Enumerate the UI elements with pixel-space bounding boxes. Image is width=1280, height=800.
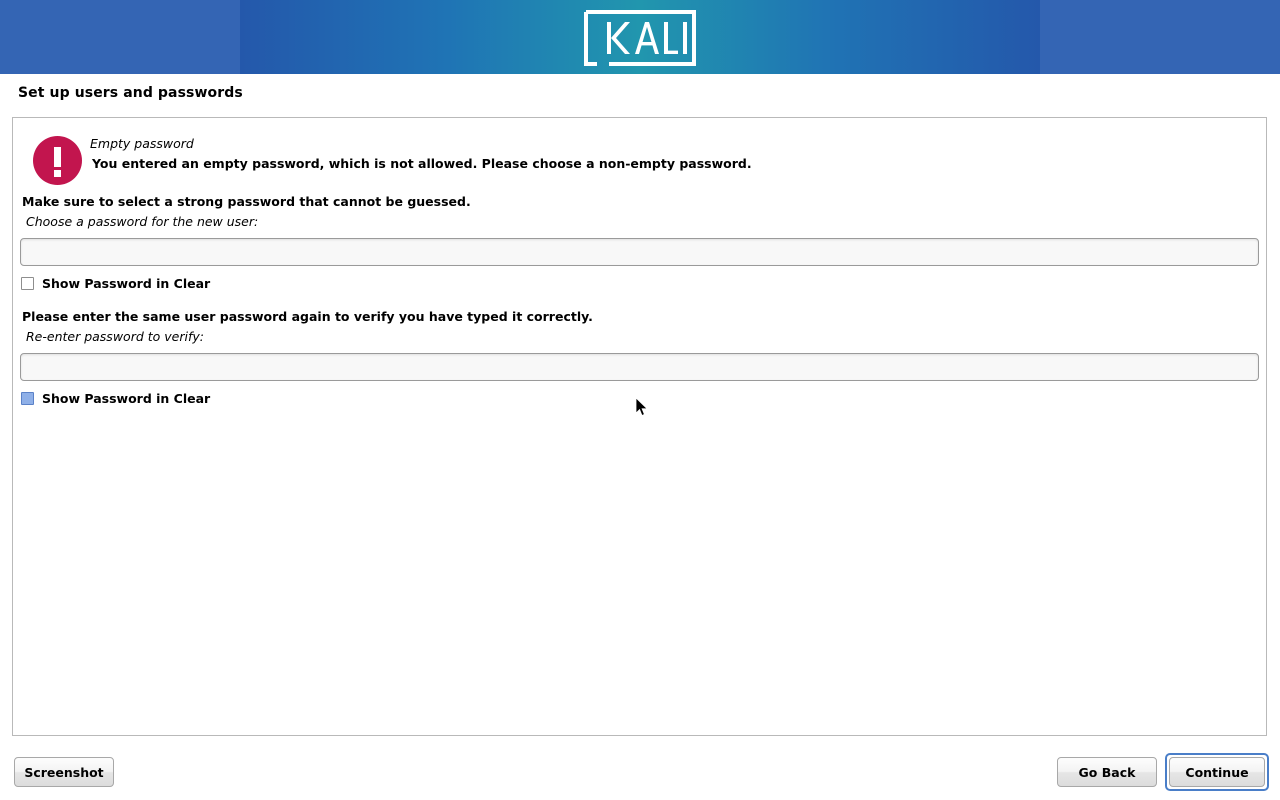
password-strength-hint: Make sure to select a strong password th… [22,194,471,209]
page-title: Set up users and passwords [18,85,243,101]
content-frame: Empty password You entered an empty pass… [12,117,1267,736]
show-password-label-2: Show Password in Clear [42,391,210,406]
continue-button[interactable]: Continue [1169,757,1265,787]
show-password-checkbox-row-2[interactable]: Show Password in Clear [21,391,210,406]
kali-banner [0,0,1280,74]
kali-logo-icon [583,9,697,67]
show-password-checkbox-1[interactable] [21,277,34,290]
continue-button-focus-ring: Continue [1165,753,1269,791]
show-password-label-1: Show Password in Clear [42,276,210,291]
password-field-label: Choose a password for the new user: [26,214,258,229]
verify-password-hint: Please enter the same user password agai… [22,309,593,324]
verify-password-input[interactable] [20,353,1259,381]
password-form: Make sure to select a strong password th… [13,118,1266,735]
go-back-button[interactable]: Go Back [1057,757,1157,787]
screenshot-button[interactable]: Screenshot [14,757,114,787]
installer-screen: Set up users and passwords Empty passwor… [0,0,1280,800]
verify-field-label: Re-enter password to verify: [26,329,204,344]
show-password-checkbox-2[interactable] [21,392,34,405]
password-input[interactable] [20,238,1259,266]
show-password-checkbox-row-1[interactable]: Show Password in Clear [21,276,210,291]
